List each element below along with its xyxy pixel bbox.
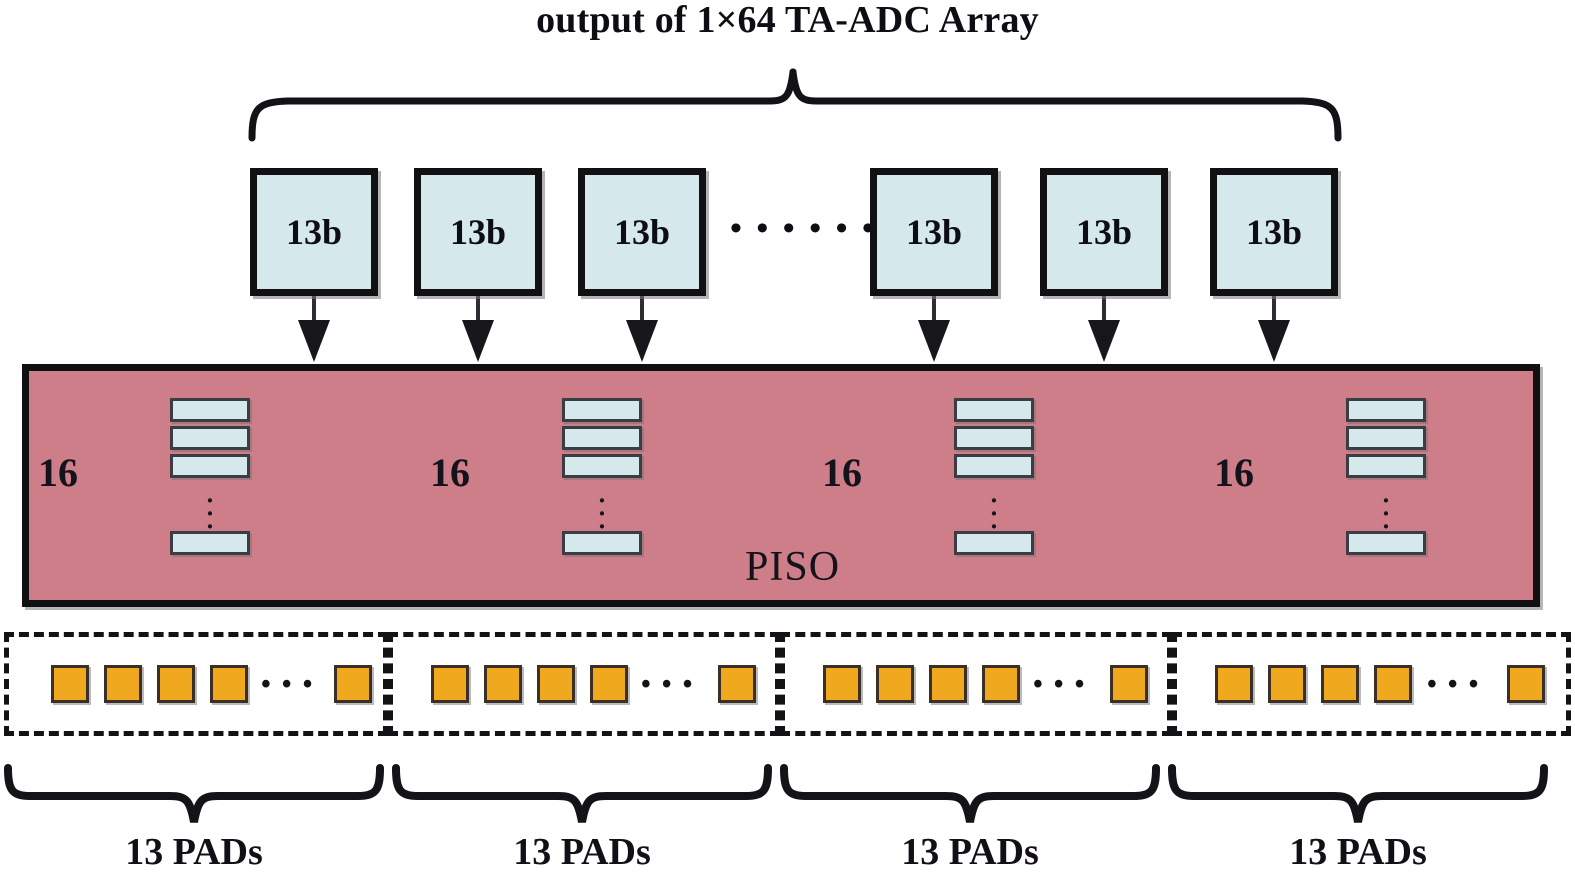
piso-group-3-count: 16	[822, 449, 862, 496]
adc-box-1[interactable]: 13b	[250, 168, 378, 296]
adc-box-6[interactable]: 13b	[1210, 168, 1338, 296]
piso-group-4-count: 16	[1214, 449, 1254, 496]
pad-group-3-dots: • • •	[1033, 671, 1086, 699]
piso-register-bar	[562, 398, 642, 422]
adc-box-5[interactable]: 13b	[1040, 168, 1168, 296]
pad-group-1-dots: • • •	[261, 671, 314, 699]
adc-box-3[interactable]: 13b	[578, 168, 706, 296]
pad-group-4-dots: • • •	[1427, 671, 1480, 699]
pad-square[interactable]	[1374, 665, 1412, 703]
diagram-canvas: output of 1×64 TA-ADC Array	[0, 0, 1575, 888]
piso-label: PISO	[745, 543, 840, 591]
adc-box-2[interactable]: 13b	[414, 168, 542, 296]
pad-square[interactable]	[51, 665, 89, 703]
top-brace	[252, 72, 1338, 138]
pad-square[interactable]	[823, 665, 861, 703]
piso-register-bar	[1346, 531, 1426, 555]
pad-square[interactable]	[484, 665, 522, 703]
adc-box-label: 13b	[614, 211, 670, 253]
piso-register-bar	[562, 531, 642, 555]
pads-label-2: 13 PADs	[392, 830, 772, 874]
pad-group-4: • • •	[1172, 632, 1571, 736]
pad-group-2: • • •	[388, 632, 780, 736]
adc-box-label: 13b	[1076, 211, 1132, 253]
pad-square[interactable]	[537, 665, 575, 703]
piso-group-4-vdots: · · ·	[1380, 494, 1392, 533]
bottom-braces	[8, 768, 1544, 822]
piso-group-2-vdots: · · ·	[596, 494, 608, 533]
pads-label-1: 13 PADs	[4, 830, 384, 874]
piso-group-2-count: 16	[430, 449, 470, 496]
pad-square[interactable]	[1321, 665, 1359, 703]
adc-box-label: 13b	[906, 211, 962, 253]
adc-box-label: 13b	[286, 211, 342, 253]
adc-to-piso-arrows	[298, 292, 1290, 362]
pad-square[interactable]	[1268, 665, 1306, 703]
pads-label-4: 13 PADs	[1168, 830, 1548, 874]
piso-register-bar	[1346, 426, 1426, 450]
piso-register-bar	[1346, 454, 1426, 478]
piso-register-bar	[954, 531, 1034, 555]
piso-group-1-vdots: · · ·	[204, 494, 216, 533]
piso-register-bar	[954, 454, 1034, 478]
piso-group-1-count: 16	[38, 449, 78, 496]
adc-box-label: 13b	[450, 211, 506, 253]
pad-square[interactable]	[210, 665, 248, 703]
piso-register-bar	[1346, 398, 1426, 422]
pad-square[interactable]	[1215, 665, 1253, 703]
adc-box-4[interactable]: 13b	[870, 168, 998, 296]
piso-register-bar	[170, 426, 250, 450]
pad-square[interactable]	[431, 665, 469, 703]
adc-row-ellipsis: • • • • • •	[730, 212, 877, 246]
pad-square[interactable]	[982, 665, 1020, 703]
piso-register-bar	[170, 454, 250, 478]
pad-square[interactable]	[1507, 665, 1545, 703]
pad-square[interactable]	[718, 665, 756, 703]
piso-register-bar	[954, 426, 1034, 450]
pad-square[interactable]	[876, 665, 914, 703]
pad-square[interactable]	[929, 665, 967, 703]
pad-square[interactable]	[590, 665, 628, 703]
piso-register-bar	[562, 426, 642, 450]
pad-group-2-dots: • • •	[641, 671, 694, 699]
pad-square[interactable]	[157, 665, 195, 703]
pads-label-3: 13 PADs	[780, 830, 1160, 874]
piso-register-bar	[954, 398, 1034, 422]
piso-register-bar	[170, 531, 250, 555]
piso-register-bar	[562, 454, 642, 478]
pad-square[interactable]	[334, 665, 372, 703]
pad-square[interactable]	[1110, 665, 1148, 703]
pad-group-1: • • •	[4, 632, 388, 736]
pad-square[interactable]	[104, 665, 142, 703]
piso-group-3-vdots: · · ·	[988, 494, 1000, 533]
adc-box-label: 13b	[1246, 211, 1302, 253]
pad-group-3: • • •	[780, 632, 1172, 736]
piso-register-bar	[170, 398, 250, 422]
